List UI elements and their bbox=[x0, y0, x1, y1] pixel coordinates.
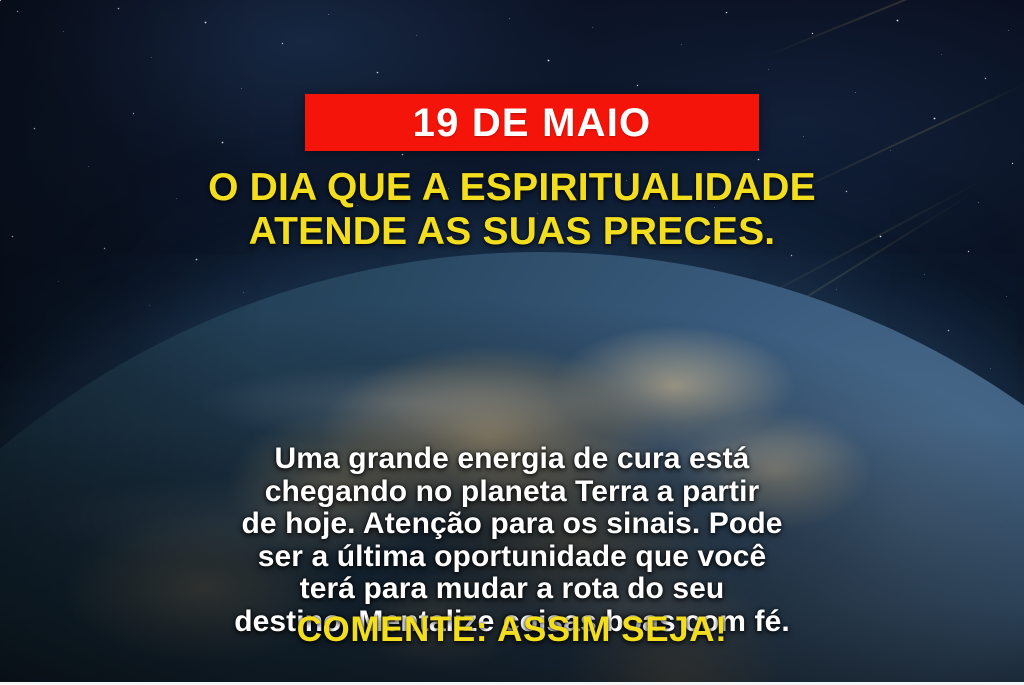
headline-line-1: O DIA QUE A ESPIRITUALIDADE bbox=[0, 166, 1024, 210]
poster-content: 19 DE MAIO O DIA QUE A ESPIRITUALIDADE A… bbox=[0, 0, 1024, 685]
body-line-5: terá para mudar a rota do seu bbox=[0, 573, 1024, 606]
date-banner-label: 19 DE MAIO bbox=[413, 103, 652, 143]
body-text: Uma grande energia de cura está chegando… bbox=[0, 443, 1024, 638]
body-line-2: chegando no planeta Terra a partir bbox=[0, 476, 1024, 509]
call-to-action-text: COMENTE: ASSIM SEJA! bbox=[0, 612, 1024, 647]
body-line-3: de hoje. Atenção para os sinais. Pode bbox=[0, 508, 1024, 541]
body-line-4: ser a última oportunidade que você bbox=[0, 541, 1024, 574]
headline-line-2: ATENDE AS SUAS PRECES. bbox=[0, 210, 1024, 254]
poster-canvas: 19 DE MAIO O DIA QUE A ESPIRITUALIDADE A… bbox=[0, 0, 1024, 685]
body-line-1: Uma grande energia de cura está bbox=[0, 443, 1024, 476]
headline: O DIA QUE A ESPIRITUALIDADE ATENDE AS SU… bbox=[0, 166, 1024, 253]
date-banner: 19 DE MAIO bbox=[305, 94, 759, 151]
